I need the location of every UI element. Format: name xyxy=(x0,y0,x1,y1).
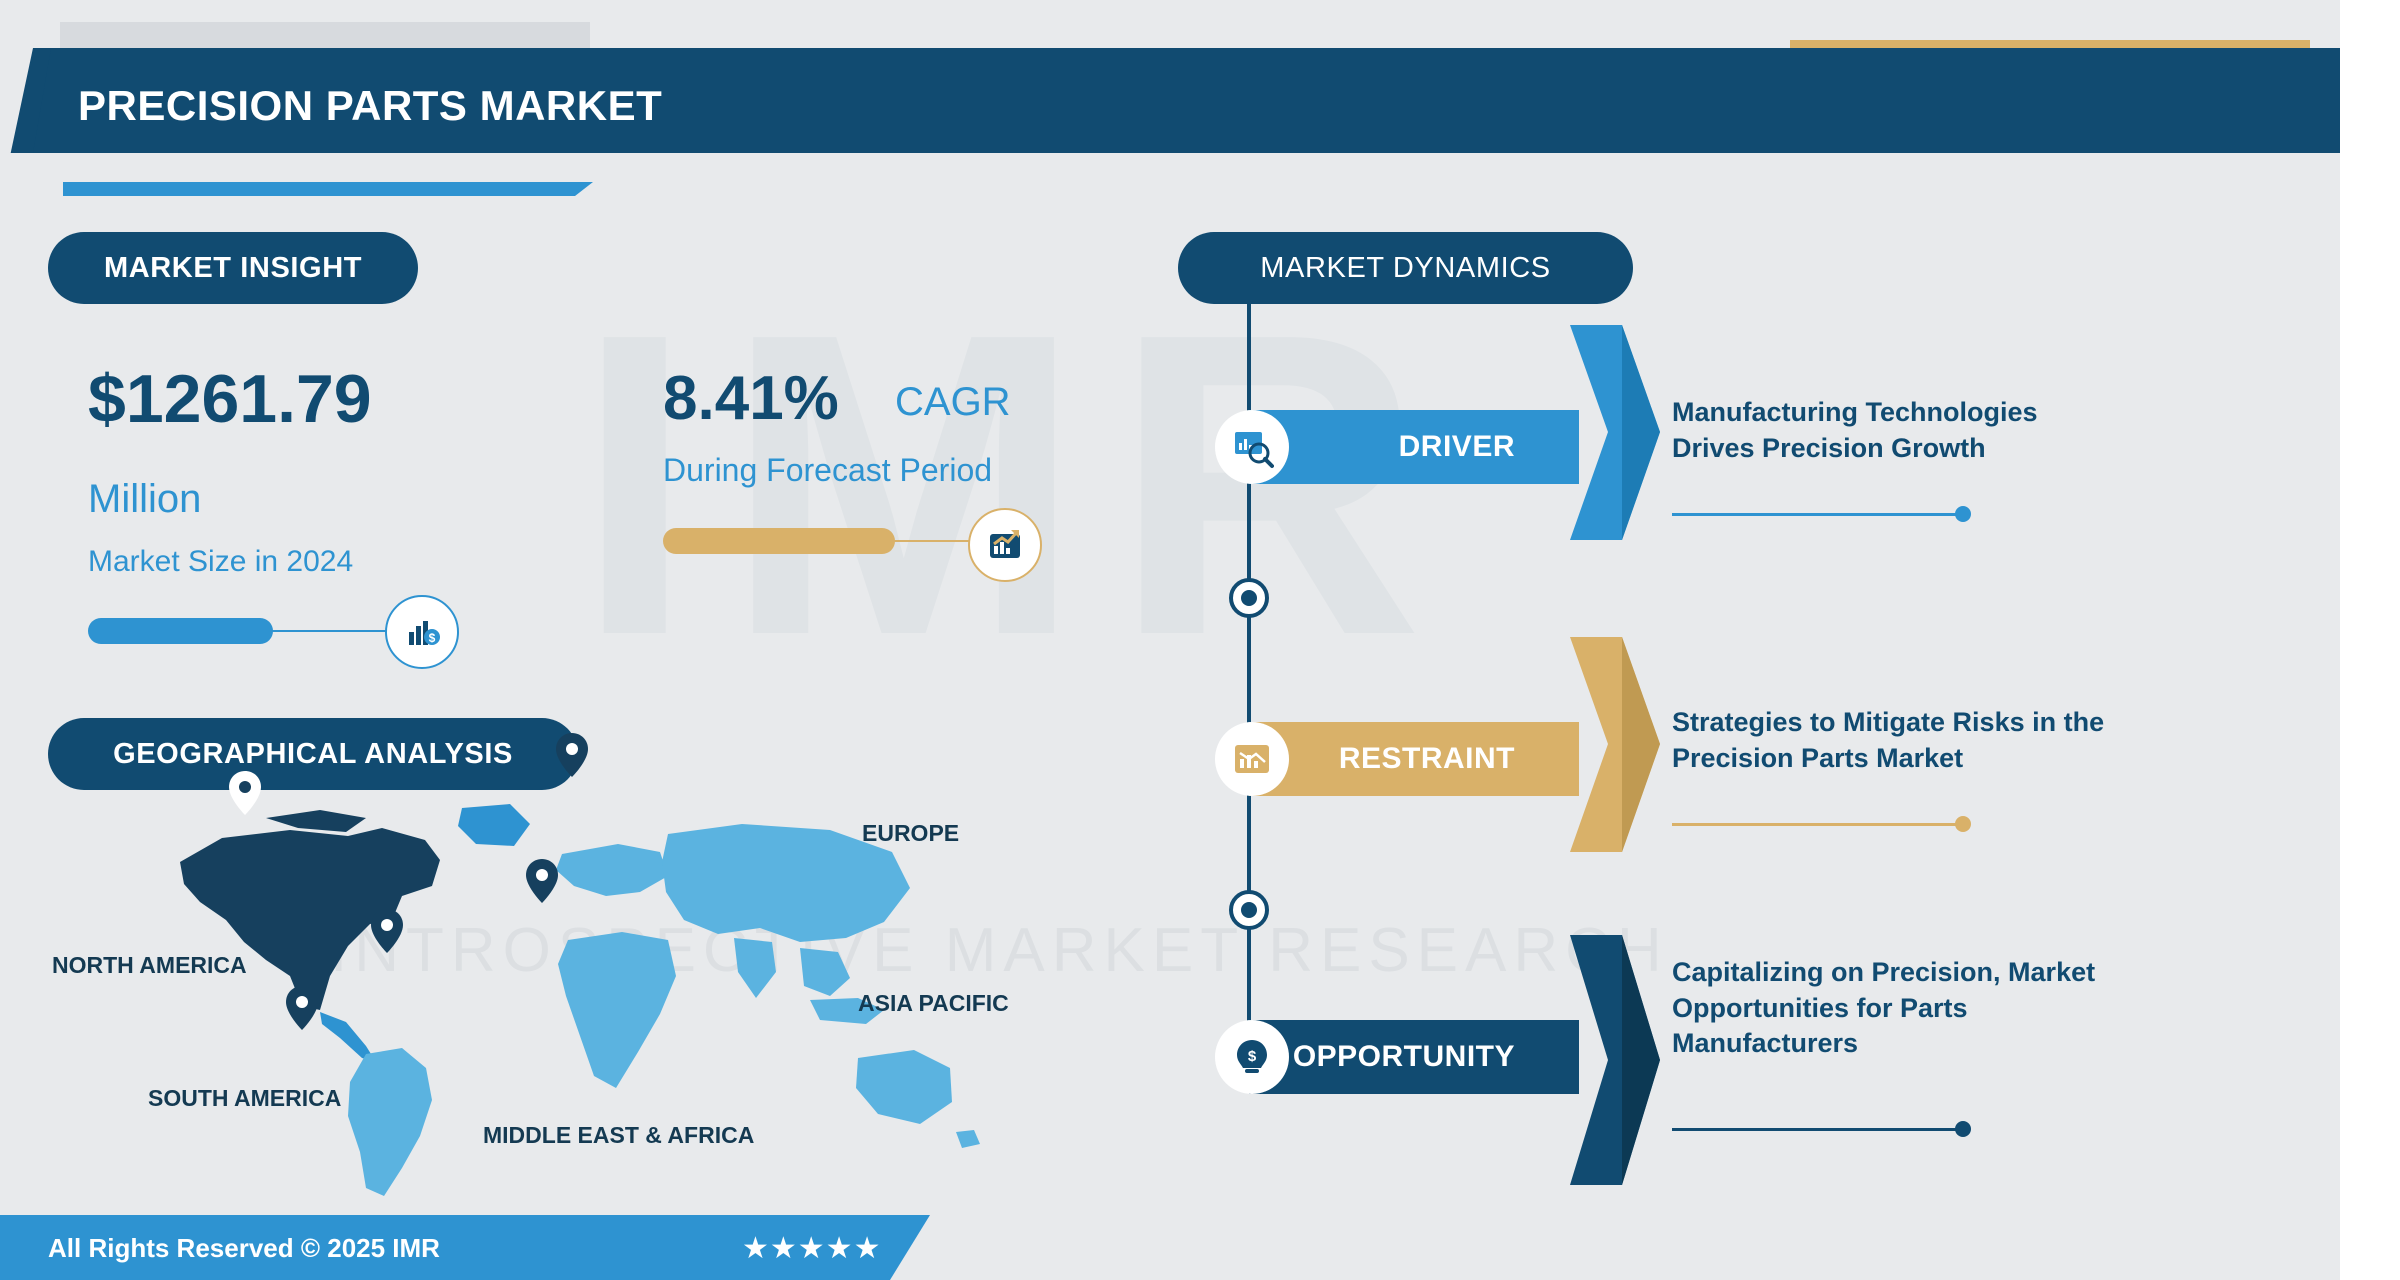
dynamics-node-1 xyxy=(1229,578,1269,618)
region-label-north-america: NORTH AMERICA xyxy=(52,952,247,979)
pin-south-america xyxy=(285,985,319,1031)
market-size-value: $1261.79 xyxy=(88,360,372,438)
pin-europe xyxy=(555,732,589,778)
restraint-text-line2: Precision Parts Market xyxy=(1672,741,2104,777)
footer-stars: ★★★★★ xyxy=(742,1231,881,1266)
svg-text:$: $ xyxy=(1248,1048,1257,1065)
svg-text:$: $ xyxy=(429,631,436,645)
opportunity-dot xyxy=(1955,1121,1971,1137)
driver-text: Manufacturing Technologies Drives Precis… xyxy=(1672,395,2038,466)
pin-north-america xyxy=(228,770,262,816)
restraint-arrow xyxy=(1570,637,1660,852)
region-label-asia-pacific: ASIA PACIFIC xyxy=(858,990,1009,1017)
market-dynamics-pill: MARKET DYNAMICS xyxy=(1178,232,1633,304)
opportunity-text: Capitalizing on Precision, Market Opport… xyxy=(1672,955,2095,1062)
page-title: PRECISION PARTS MARKET xyxy=(78,82,662,130)
right-white-edge xyxy=(2340,0,2400,1280)
restraint-underline xyxy=(1672,823,1962,826)
declining-chart-icon xyxy=(1215,722,1289,796)
market-insight-pill: MARKET INSIGHT xyxy=(48,232,418,304)
driver-dot xyxy=(1955,506,1971,522)
pin-asia-pacific xyxy=(525,858,559,904)
restraint-band: RESTRAINT xyxy=(1249,722,1579,796)
header-shadow-bar xyxy=(60,22,590,52)
cagr-bar xyxy=(663,528,895,554)
opportunity-underline xyxy=(1672,1128,1962,1131)
dynamics-node-2 xyxy=(1229,890,1269,930)
restraint-text: Strategies to Mitigate Risks in the Prec… xyxy=(1672,705,2104,776)
lightbulb-dollar-icon: $ xyxy=(1215,1020,1289,1094)
restraint-text-line1: Strategies to Mitigate Risks in the xyxy=(1672,705,2104,741)
cagr-sublabel: During Forecast Period xyxy=(663,452,992,489)
driver-text-line2: Drives Precision Growth xyxy=(1672,431,2038,467)
opportunity-text-line3: Manufacturers xyxy=(1672,1026,2095,1062)
growth-chart-icon xyxy=(968,508,1042,582)
opportunity-text-line2: Opportunities for Parts xyxy=(1672,991,2095,1027)
market-size-caption: Market Size in 2024 xyxy=(88,545,353,579)
market-size-bar xyxy=(88,618,273,644)
driver-arrow xyxy=(1570,325,1660,540)
cagr-value: 8.41% xyxy=(663,363,839,434)
driver-underline xyxy=(1672,513,1962,516)
opportunity-band: OPPORTUNITY xyxy=(1249,1020,1579,1094)
bar-chart-dollar-icon: $ xyxy=(385,595,459,669)
opportunity-text-line1: Capitalizing on Precision, Market xyxy=(1672,955,2095,991)
opportunity-arrow xyxy=(1570,935,1660,1185)
market-research-icon xyxy=(1215,410,1289,484)
cagr-label: CAGR xyxy=(895,380,1011,425)
driver-band: DRIVER xyxy=(1249,410,1579,484)
header-underline xyxy=(63,182,593,196)
driver-text-line1: Manufacturing Technologies xyxy=(1672,395,2038,431)
infographic-root: IMR INTROSPECTIVE MARKET RESEARCH PRECIS… xyxy=(0,0,2400,1280)
region-label-south-america: SOUTH AMERICA xyxy=(148,1085,341,1112)
region-label-europe: EUROPE xyxy=(862,820,959,847)
market-size-connector xyxy=(250,630,395,632)
geographical-analysis-pill: GEOGRAPHICAL ANALYSIS xyxy=(48,718,578,790)
pin-middle-east-africa xyxy=(370,908,404,954)
market-size-unit: Million xyxy=(88,477,201,522)
region-label-middle-east-africa: MIDDLE EAST & AFRICA xyxy=(483,1122,754,1149)
footer-copyright: All Rights Reserved © 2025 IMR xyxy=(48,1233,440,1264)
restraint-dot xyxy=(1955,816,1971,832)
